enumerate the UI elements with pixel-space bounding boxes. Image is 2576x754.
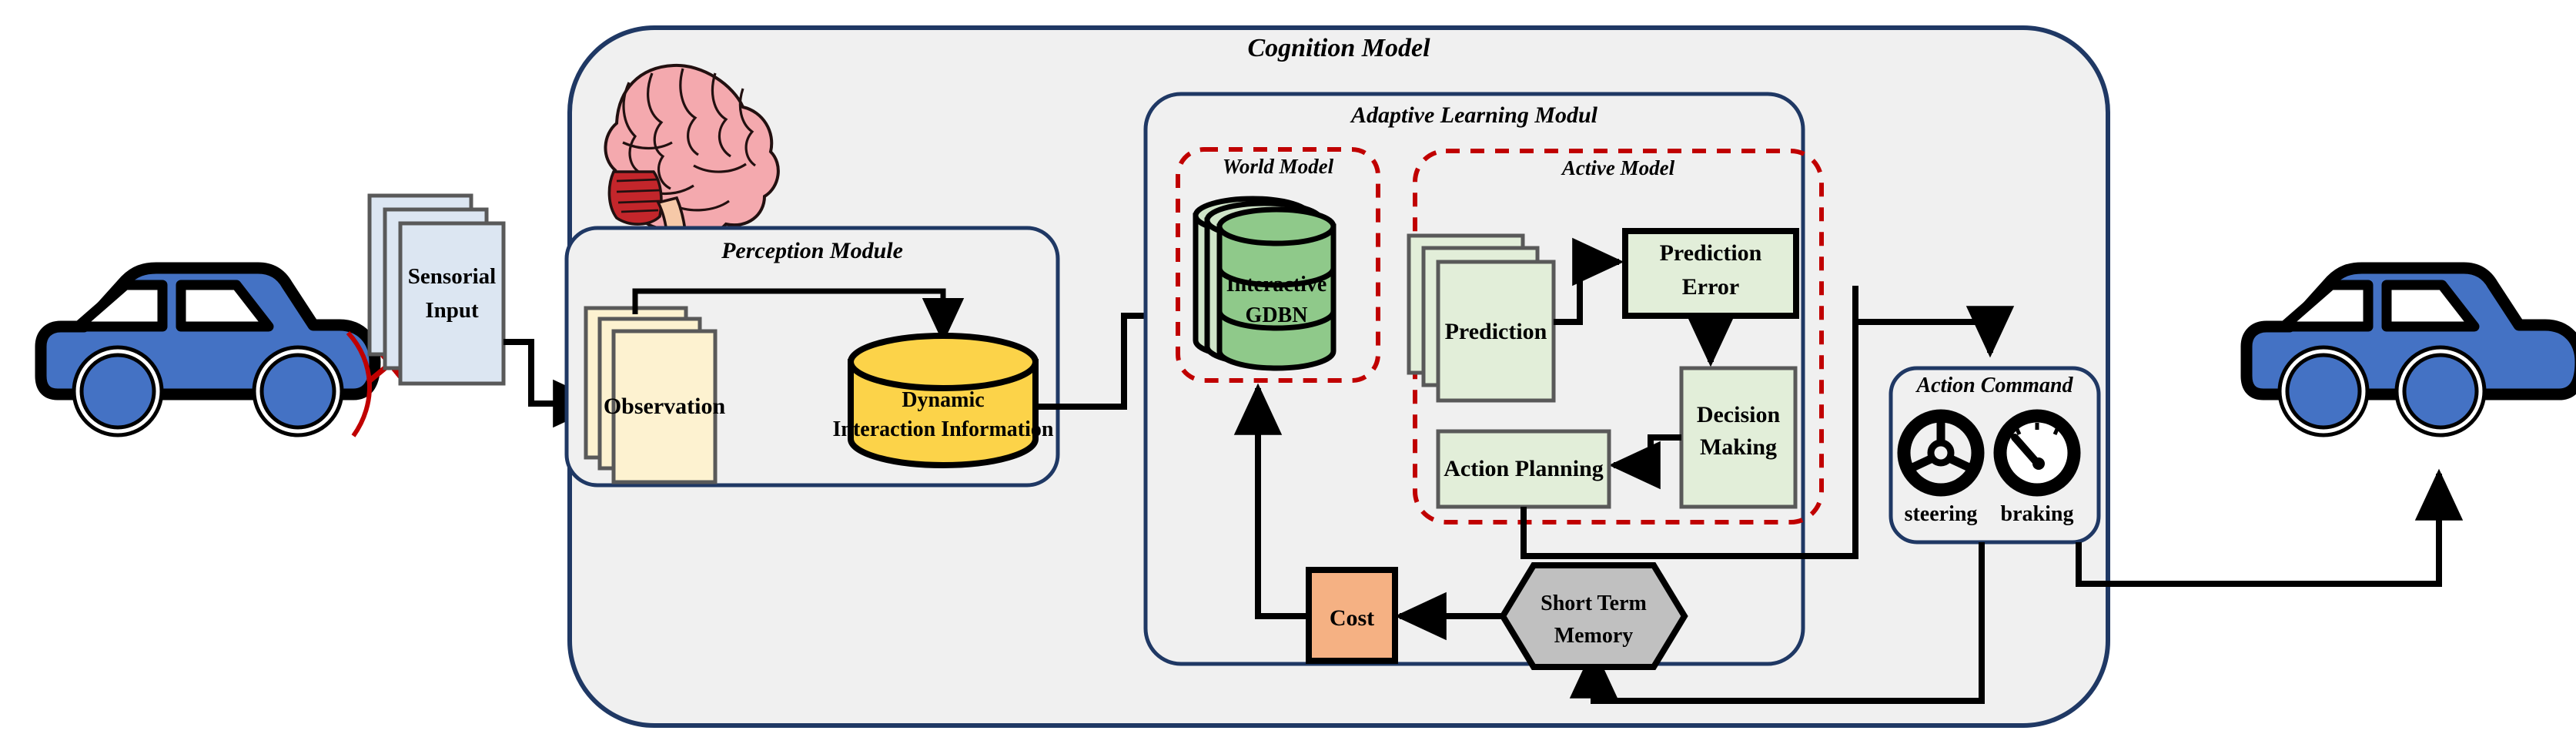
dynamic-interaction-label-line2: Interaction Information	[833, 417, 1054, 441]
action-planning-label: Action Planning	[1444, 456, 1604, 481]
target-car-icon	[2246, 268, 2576, 431]
sensorial-input-node[interactable]: Sensorial Input	[370, 196, 503, 384]
steering-label: steering	[1905, 502, 1978, 526]
decision-making-label-line2: Making	[1700, 434, 1777, 460]
perception-module-label: Perception Module	[721, 238, 903, 263]
interactive-gdbn-label-line2: GDBN	[1246, 303, 1308, 327]
action-command-label: Action Command	[1915, 374, 2073, 397]
prediction-node[interactable]: Prediction	[1409, 236, 1554, 400]
cost-label: Cost	[1330, 605, 1374, 631]
sensorial-input-label-line1: Sensorial	[408, 264, 496, 289]
cognition-model-label: Cognition Model	[1247, 34, 1430, 62]
prediction-error-label-line2: Error	[1682, 274, 1739, 300]
braking-label: braking	[2001, 502, 2074, 526]
decision-making-node[interactable]: Decision Making	[1681, 368, 1795, 507]
prediction-error-node[interactable]: Prediction Error	[1625, 231, 1796, 316]
cost-node[interactable]: Cost	[1309, 570, 1395, 661]
prediction-label: Prediction	[1445, 319, 1547, 344]
sensorial-input-label-line2: Input	[425, 298, 479, 323]
short-term-memory-node[interactable]: Short Term Memory	[1503, 565, 1684, 667]
world-model-label: World Model	[1223, 155, 1334, 178]
dynamic-interaction-label-line1: Dynamic	[902, 388, 984, 412]
diagram-canvas: Cognition Model Senso	[0, 0, 2576, 754]
interactive-gdbn-label-line1: Interactive	[1226, 273, 1327, 297]
short-term-memory-label-line2: Memory	[1554, 624, 1634, 648]
active-model-label: Active Model	[1561, 156, 1675, 179]
observation-label: Observation	[604, 394, 726, 419]
observation-node[interactable]: Observation	[586, 308, 725, 482]
gauge-icon	[1997, 416, 2077, 490]
prediction-error-label-line1: Prediction	[1660, 240, 1762, 266]
adaptive-learning-module-label: Adaptive Learning Modul	[1350, 102, 1598, 128]
interactive-gdbn-node[interactable]: Interactive GDBN	[1196, 199, 1333, 368]
ego-car-icon	[41, 268, 375, 431]
short-term-memory-label-line1: Short Term	[1541, 591, 1647, 615]
dynamic-interaction-node[interactable]: Dynamic Interaction Information	[833, 336, 1054, 465]
decision-making-label-line1: Decision	[1697, 402, 1781, 427]
action-planning-node[interactable]: Action Planning	[1438, 431, 1609, 507]
